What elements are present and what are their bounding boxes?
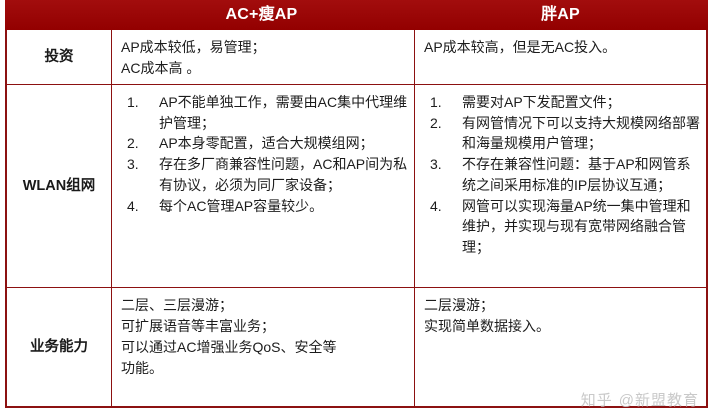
list-item: 1. AP不能单独工作，需要由AC集中代理维护管理； <box>121 92 408 133</box>
text-line: AP成本较高，但是无AC投入。 <box>424 37 700 58</box>
list-item-text: 每个AC管理AP容量较少。 <box>159 196 408 217</box>
list-item-number: 2. <box>127 133 153 154</box>
row-label-cell: 业务能力 <box>7 288 112 406</box>
cell-fat-ap-service-capability: 二层漫游； 实现简单数据接入。 <box>415 288 706 406</box>
list-item-number: 2. <box>430 113 456 134</box>
list-item: 2. AP本身零配置，适合大规模组网； <box>121 133 408 154</box>
text-line: 二层、三层漫游； <box>121 295 408 316</box>
paragraph: AP成本较高，但是无AC投入。 <box>424 37 700 58</box>
table-screenshot: AC+瘦AP 胖AP 投资 AP成本较低，易管理； AC成本高 。 AP成本较高… <box>0 0 713 416</box>
list-item: 3. 存在多厂商兼容性问题，AC和AP间为私有协议，必须为同厂家设备； <box>121 154 408 195</box>
table-row: WLAN组网 1. AP不能单独工作，需要由AC集中代理维护管理； 2. AP本… <box>7 84 706 288</box>
row-label-wlan-networking: WLAN组网 <box>23 177 96 195</box>
text-line: 可以通过AC增强业务QoS、安全等 <box>121 337 408 358</box>
cell-fat-ap-wlan-networking: 1. 需要对AP下发配置文件； 2. 有网管情况下可以支持大规模网络部署和海量规… <box>415 85 706 287</box>
text-line: 实现简单数据接入。 <box>424 316 700 337</box>
ordered-list: 1. 需要对AP下发配置文件； 2. 有网管情况下可以支持大规模网络部署和海量规… <box>424 92 700 258</box>
list-item-number: 3. <box>127 154 153 175</box>
text-line: AC成本高 。 <box>121 58 408 79</box>
list-item: 3. 不存在兼容性问题：基于AP和网管系统之间采用标准的IP层协议互通； <box>424 154 700 195</box>
table-header-row: AC+瘦AP 胖AP <box>5 0 708 30</box>
list-item: 4. 网管可以实现海量AP统一集中管理和维护，并实现与现有宽带网络融合管理； <box>424 196 700 258</box>
list-item-text: 有网管情况下可以支持大规模网络部署和海量规模用户管理； <box>462 113 700 154</box>
paragraph: 二层、三层漫游； 可扩展语音等丰富业务； 可以通过AC增强业务QoS、安全等 功… <box>121 295 408 379</box>
text-line: 功能。 <box>121 358 408 379</box>
list-item-number: 3. <box>430 154 456 175</box>
list-item-number: 1. <box>430 92 456 113</box>
list-item-number: 4. <box>430 196 456 217</box>
row-label-investment: 投资 <box>45 48 74 66</box>
comparison-table: 投资 AP成本较低，易管理； AC成本高 。 AP成本较高，但是无AC投入。 W… <box>5 30 708 408</box>
row-label-service-capability: 业务能力 <box>30 338 88 356</box>
header-cell-fat-ap: 胖AP <box>413 0 708 30</box>
list-item-text: 需要对AP下发配置文件； <box>462 92 700 113</box>
text-line: 可扩展语音等丰富业务； <box>121 316 408 337</box>
row-label-cell: 投资 <box>7 30 112 84</box>
list-item-text: 存在多厂商兼容性问题，AC和AP间为私有协议，必须为同厂家设备； <box>159 154 408 195</box>
cell-fat-ap-investment: AP成本较高，但是无AC投入。 <box>415 30 706 84</box>
text-line: AP成本较低，易管理； <box>121 37 408 58</box>
header-cell-thin-ap: AC+瘦AP <box>110 0 413 30</box>
text-line: 二层漫游； <box>424 295 700 316</box>
row-label-cell: WLAN组网 <box>7 85 112 287</box>
cell-thin-ap-wlan-networking: 1. AP不能单独工作，需要由AC集中代理维护管理； 2. AP本身零配置，适合… <box>112 85 415 287</box>
paragraph: 二层漫游； 实现简单数据接入。 <box>424 295 700 337</box>
list-item-text: AP本身零配置，适合大规模组网； <box>159 133 408 154</box>
list-item: 1. 需要对AP下发配置文件； <box>424 92 700 113</box>
list-item-text: AP不能单独工作，需要由AC集中代理维护管理； <box>159 92 408 133</box>
list-item: 4. 每个AC管理AP容量较少。 <box>121 196 408 217</box>
table-row: 投资 AP成本较低，易管理； AC成本高 。 AP成本较高，但是无AC投入。 <box>7 30 706 84</box>
list-item: 2. 有网管情况下可以支持大规模网络部署和海量规模用户管理； <box>424 113 700 154</box>
ordered-list: 1. AP不能单独工作，需要由AC集中代理维护管理； 2. AP本身零配置，适合… <box>121 92 408 216</box>
header-cell-corner <box>5 0 110 30</box>
list-item-text: 网管可以实现海量AP统一集中管理和维护，并实现与现有宽带网络融合管理； <box>462 196 700 258</box>
list-item-number: 4. <box>127 196 153 217</box>
list-item-text: 不存在兼容性问题：基于AP和网管系统之间采用标准的IP层协议互通； <box>462 154 700 195</box>
list-item-number: 1. <box>127 92 153 113</box>
table-row: 业务能力 二层、三层漫游； 可扩展语音等丰富业务； 可以通过AC增强业务QoS、… <box>7 288 706 406</box>
paragraph: AP成本较低，易管理； AC成本高 。 <box>121 37 408 79</box>
cell-thin-ap-service-capability: 二层、三层漫游； 可扩展语音等丰富业务； 可以通过AC增强业务QoS、安全等 功… <box>112 288 415 406</box>
cell-thin-ap-investment: AP成本较低，易管理； AC成本高 。 <box>112 30 415 84</box>
